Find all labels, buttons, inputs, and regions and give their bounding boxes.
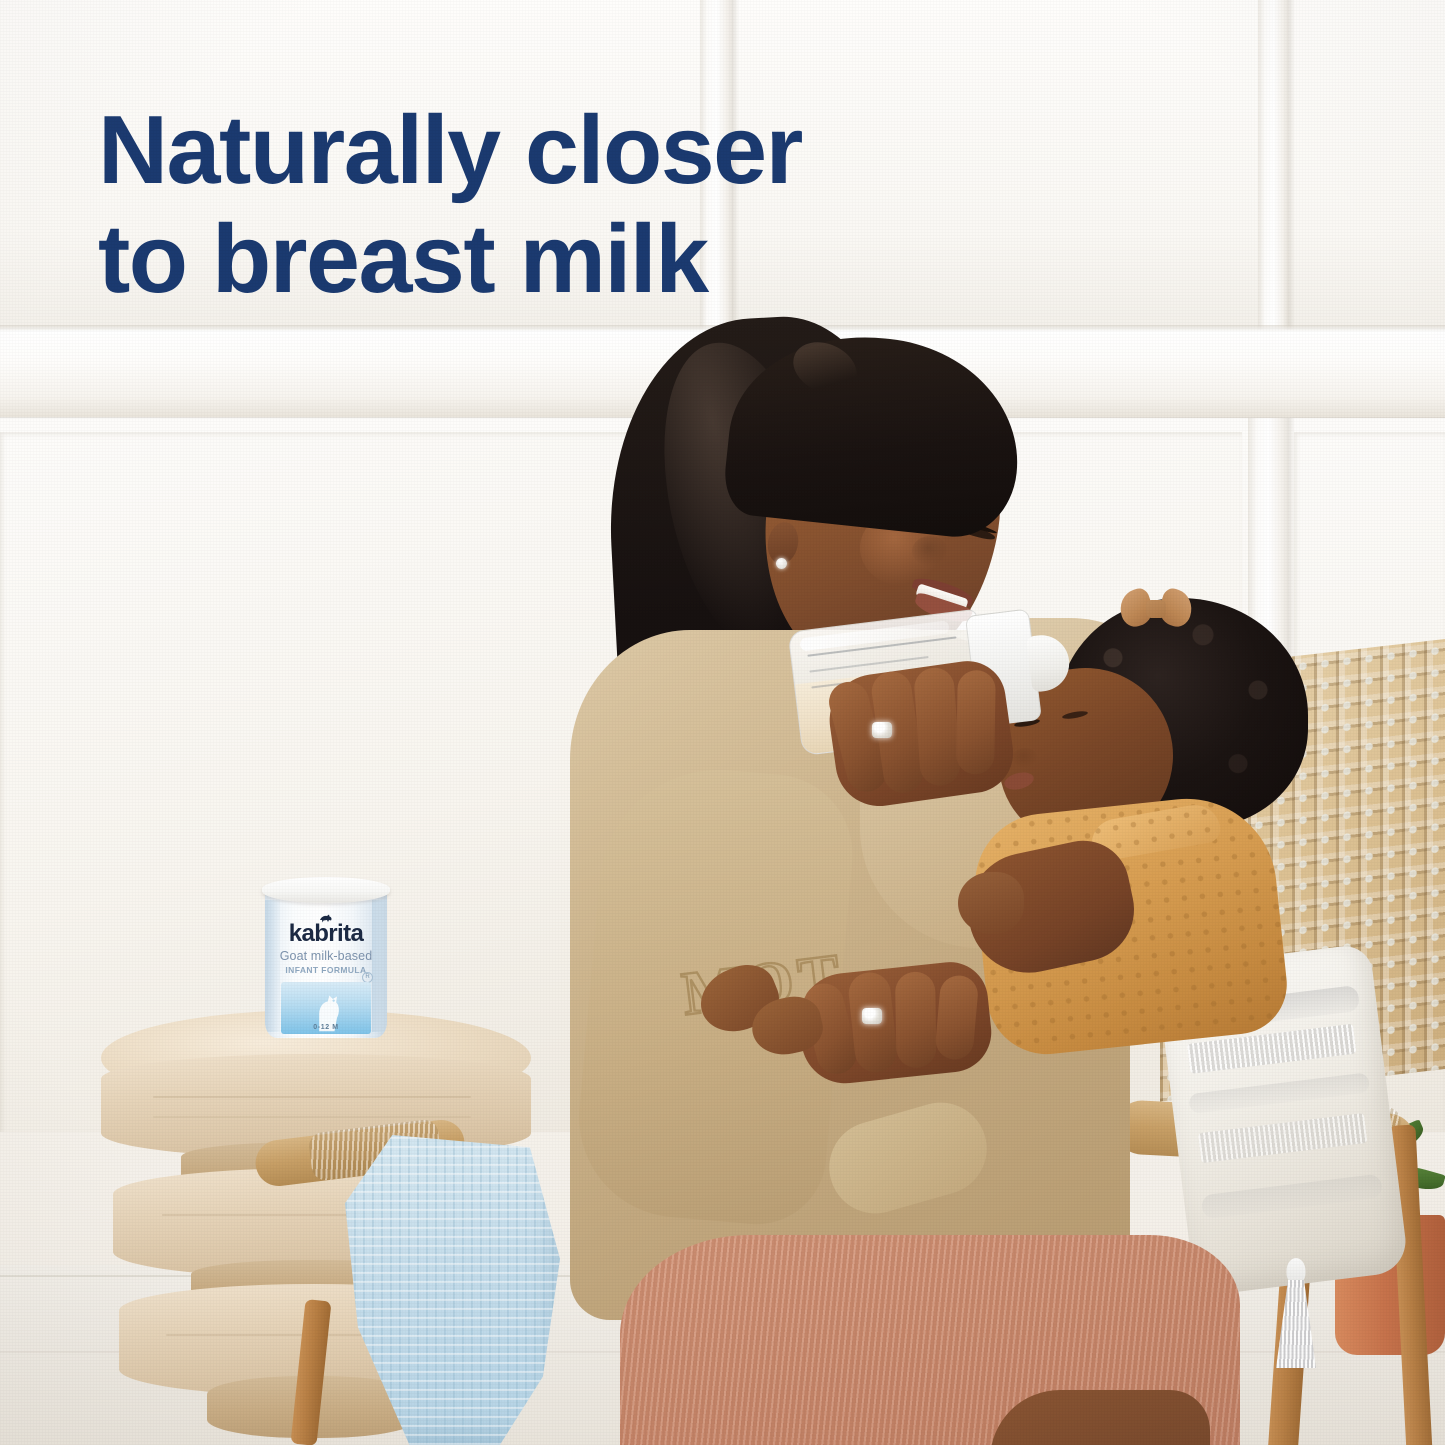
baby-hair-bow (1120, 588, 1192, 632)
formula-can: kabrita Goat milk-based infant FORMULA R… (262, 877, 390, 1042)
advertisement-image: kabrita Goat milk-based infant FORMULA R… (0, 0, 1445, 1445)
pillow-tassel (1276, 1258, 1316, 1373)
engagement-ring (872, 722, 892, 738)
ring-second-view (862, 1008, 882, 1024)
can-brand-name: kabrita (265, 920, 387, 948)
mother-hand-holding-bottle (824, 656, 1019, 811)
mother-nose (912, 536, 948, 566)
mother-hand-supporting-baby (795, 958, 995, 1087)
page-title: Naturally closer to breast milk (98, 96, 918, 313)
can-body: kabrita Goat milk-based infant FORMULA R… (265, 892, 387, 1038)
can-lid (262, 877, 390, 903)
can-descriptor: Goat milk-based (265, 949, 387, 963)
baby-hand (958, 872, 1024, 934)
can-artwork: 0-12 M (281, 982, 371, 1034)
can-age-range: 0-12 M (281, 1024, 371, 1031)
baby-nose (1012, 748, 1038, 768)
wall-batten-vertical-2 (1258, 0, 1288, 330)
mother-earring (776, 558, 787, 569)
